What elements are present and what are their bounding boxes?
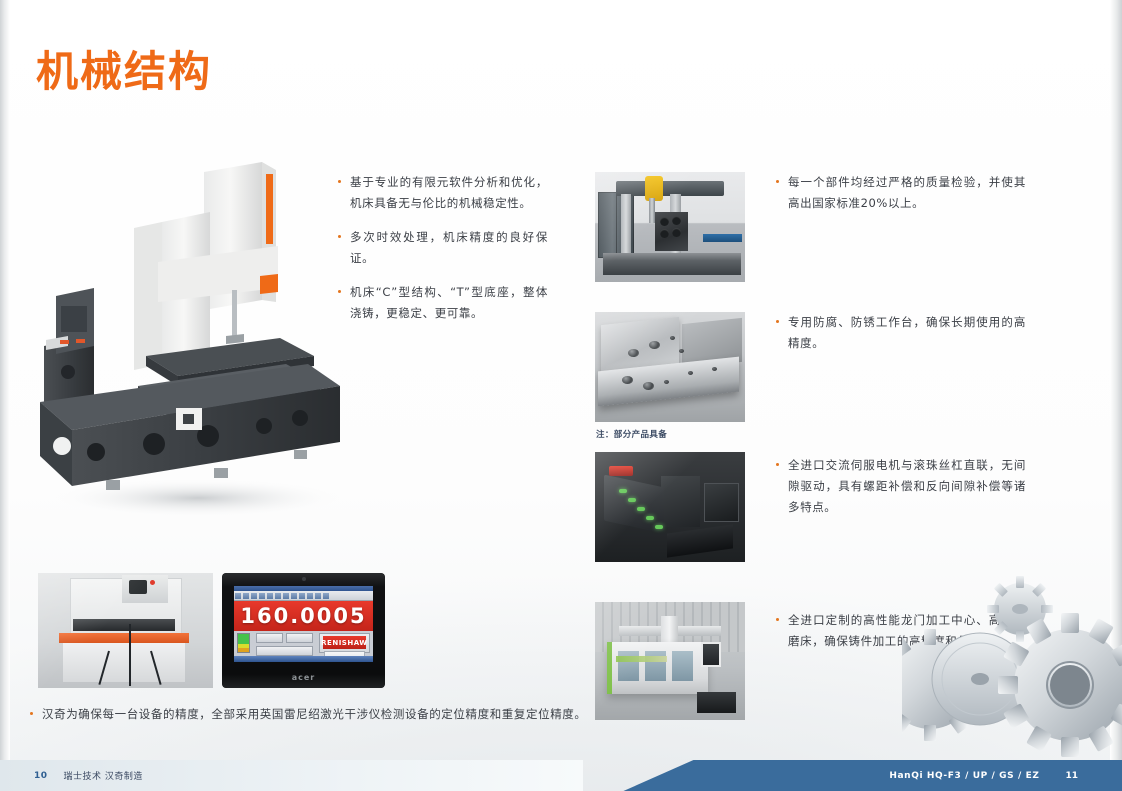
renishaw-monitor-photo: 160.0005 RENISHAW [222, 573, 385, 688]
page-footer: 10 瑞士技术 汉奇制造 HanQi HQ-F3 / UP / GS / EZ … [0, 760, 1122, 791]
bullet-text: 每一个部件均经过严格的质量检验，并使其高出国家标准20%以上。 [788, 175, 1026, 210]
measurement-readout-banner: 160.0005 [234, 601, 373, 631]
machined-worktable-photo [595, 312, 745, 422]
software-body: RENISHAW [234, 630, 373, 656]
footer-right: HanQi HQ-F3 / UP / GS / EZ 11 [583, 760, 1122, 791]
photo-detail [655, 212, 688, 252]
bullet-dot-icon [30, 712, 33, 715]
photo-detail [704, 483, 739, 522]
photo-detail [701, 642, 722, 667]
right-page-number: 11 [1065, 771, 1078, 781]
control-button-grid [256, 633, 313, 653]
bullet-text: 机床“C”型结构、“T”型底座，整体浇铸，更稳定、更可靠。 [350, 285, 548, 320]
bullet-item: 每一个部件均经过严格的质量检验，并使其高出国家标准20%以上。 [776, 172, 1026, 214]
photo-detail [609, 466, 633, 476]
webcam-icon [302, 577, 306, 581]
settings-panel: RENISHAW [319, 633, 370, 653]
photo-detail [616, 656, 667, 662]
bullet-text: 多次时效处理，机床精度的良好保证。 [350, 230, 548, 265]
footer-slogan: 瑞士技术 汉奇制造 [64, 769, 143, 782]
bullet-dot-icon [776, 463, 779, 466]
windows-taskbar [234, 656, 373, 662]
software-toolbar [234, 591, 373, 601]
linear-scale-guideway-photo [595, 452, 745, 562]
photo-detail [661, 476, 700, 527]
bullet-text: 专用防腐、防锈工作台，确保长期使用的高精度。 [788, 315, 1026, 350]
bullet-dot-icon [776, 618, 779, 621]
photo-detail [621, 194, 632, 258]
bullet-dot-icon [776, 180, 779, 183]
left-bullet-list: 基于专业的有限元软件分析和优化，机床具备无与伦比的机械稳定性。 多次时效处理，机… [338, 172, 548, 324]
footer-left: 10 瑞士技术 汉奇制造 [0, 760, 583, 791]
brochure-page: 机械结构 [0, 0, 1122, 791]
bullet-text: 全进口交流伺服电机与滚珠丝杠直联，无间隙驱动，具有螺距补偿和反向间隙补偿等诸多特… [788, 458, 1026, 514]
left-page-number: 10 [34, 771, 48, 781]
bullet-dot-icon [338, 180, 341, 183]
laser-interferometer-photo [38, 573, 213, 688]
bottom-caption: 汉奇为确保每一台设备的精度，全部采用英国雷尼绍激光干涉仪检测设备的定位精度和重复… [30, 704, 670, 725]
gear-decoration-graphic [902, 567, 1122, 767]
photo-detail [645, 176, 663, 200]
bullet-text: 汉奇为确保每一台设备的精度，全部采用英国雷尼绍激光干涉仪检测设备的定位精度和重复… [42, 707, 587, 721]
photo-detail [59, 633, 189, 643]
cmm-inspection-photo [595, 172, 745, 282]
laser-indicator-icon [150, 580, 155, 585]
page-edge-left [0, 0, 10, 791]
monitor-screen: 160.0005 RENISHAW [234, 586, 373, 662]
bullet-item: 汉奇为确保每一台设备的精度，全部采用英国雷尼绍激光干涉仪检测设备的定位精度和重复… [30, 704, 670, 725]
bullet-dot-icon [338, 235, 341, 238]
right-bullet-item-1: 每一个部件均经过严格的质量检验，并使其高出国家标准20%以上。 [776, 172, 1026, 214]
page-title: 机械结构 [36, 38, 212, 99]
measurement-value: 160.0005 [240, 604, 366, 628]
bullet-dot-icon [338, 290, 341, 293]
bullet-item: 多次时效处理，机床精度的良好保证。 [338, 227, 548, 269]
bullet-text: 基于专业的有限元软件分析和优化，机床具备无与伦比的机械稳定性。 [350, 175, 548, 210]
acer-logo: acer [292, 673, 316, 682]
photo-detail [63, 643, 186, 682]
renishaw-logo: RENISHAW [323, 636, 366, 649]
bullet-item: 基于专业的有限元软件分析和优化，机床具备无与伦比的机械稳定性。 [338, 172, 548, 214]
photo-detail [667, 524, 733, 557]
right-bullet-item-3: 全进口交流伺服电机与滚珠丝杠直联，无间隙驱动，具有螺距补偿和反向间隙补偿等诸多特… [776, 455, 1026, 518]
worktable-photo-note: 注：部分产品具备 [596, 428, 667, 440]
photo-detail [703, 234, 742, 243]
photo-detail [603, 253, 741, 275]
wire-edm-machine-photo [28, 150, 358, 520]
bullet-dot-icon [776, 320, 779, 323]
gantry-machining-center-photo [595, 602, 745, 720]
bullet-item: 全进口交流伺服电机与滚珠丝杠直联，无间隙驱动，具有螺距补偿和反向间隙补偿等诸多特… [776, 455, 1026, 518]
bullet-item: 专用防腐、防锈工作台，确保长期使用的高精度。 [776, 312, 1026, 354]
photo-detail [697, 692, 736, 713]
right-bullet-item-2: 专用防腐、防锈工作台，确保长期使用的高精度。 [776, 312, 1026, 354]
bullet-item: 机床“C”型结构、“T”型底座，整体浇铸，更稳定、更可靠。 [338, 282, 548, 324]
photo-detail [73, 619, 175, 631]
footer-model-list: HanQi HQ-F3 / UP / GS / EZ [889, 771, 1039, 781]
photo-detail [129, 580, 147, 594]
photo-detail [607, 642, 708, 694]
signal-strength-meter [237, 633, 250, 653]
